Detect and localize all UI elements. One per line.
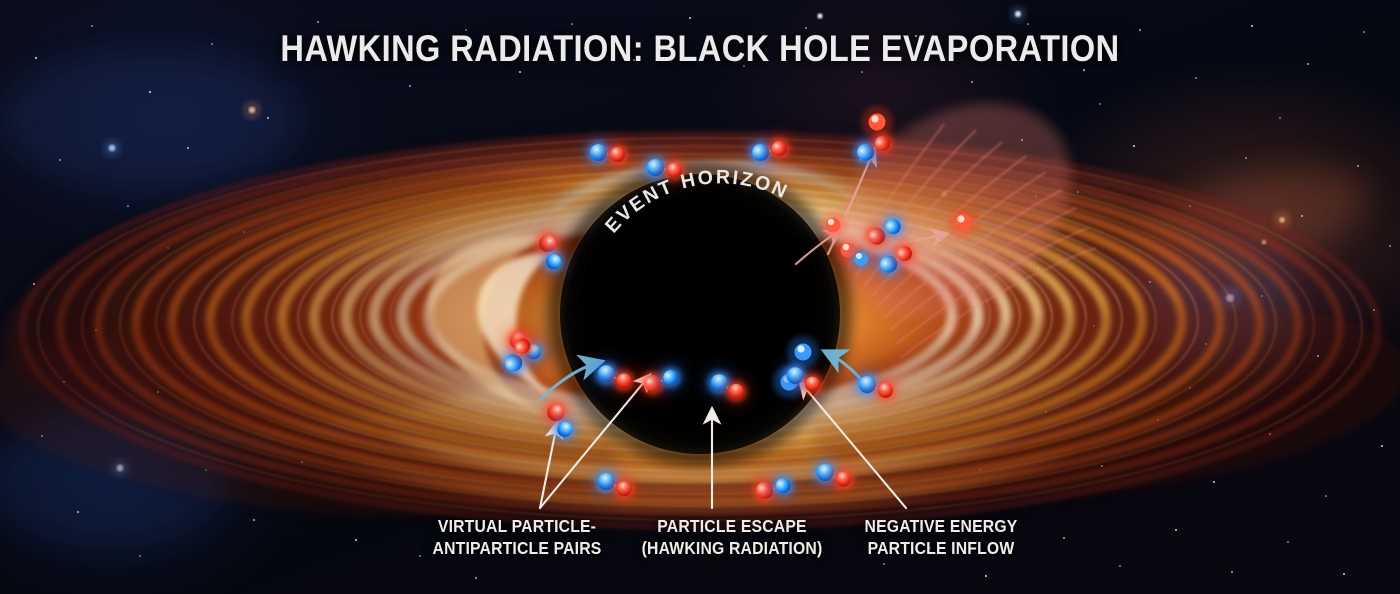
particle-red (545, 401, 568, 424)
particle-red (641, 372, 662, 393)
particle-red (665, 161, 682, 178)
particle-blue (708, 371, 731, 394)
particle-red (802, 373, 822, 393)
particle-red (754, 480, 775, 501)
particle-blue (544, 252, 563, 271)
particle-blue (595, 470, 617, 492)
particle-blue (750, 142, 770, 162)
particle-blue (814, 461, 836, 483)
particle-blue (773, 476, 791, 494)
caption-negative-inflow-line2: PARTICLE INFLOW (779, 537, 1103, 559)
particle-blue (784, 364, 807, 387)
hawking-radiation-infographic: EVENT HORIZON HAWKING RADIATION: BLACK H… (0, 0, 1400, 594)
caption-negative-inflow: NEGATIVE ENERGY PARTICLE INFLOW (779, 515, 1103, 560)
particle-blue (661, 368, 680, 387)
page-title: HAWKING RADIATION: BLACK HOLE EVAPORATIO… (84, 28, 1316, 70)
particle-red (614, 370, 634, 390)
caption-negative-inflow-line1: NEGATIVE ENERGY (865, 516, 1018, 536)
particle-blue (882, 216, 902, 236)
particle-red (726, 381, 746, 401)
particle-red (876, 380, 895, 399)
particle-red (614, 478, 634, 498)
particle-blue (595, 362, 617, 384)
particle-red (609, 146, 625, 162)
particle-blue (555, 419, 575, 439)
particle-red (833, 469, 852, 488)
particle-red (537, 232, 558, 253)
particle-blue (856, 373, 877, 394)
particle-blue (854, 141, 877, 164)
particle-red (872, 133, 892, 153)
particle-red (770, 139, 788, 157)
particle-blue (502, 352, 525, 375)
particle-blue (589, 143, 608, 162)
particle-red (864, 224, 887, 247)
particle-blue (645, 157, 664, 176)
virtual-particle-pairs (0, 0, 1400, 594)
